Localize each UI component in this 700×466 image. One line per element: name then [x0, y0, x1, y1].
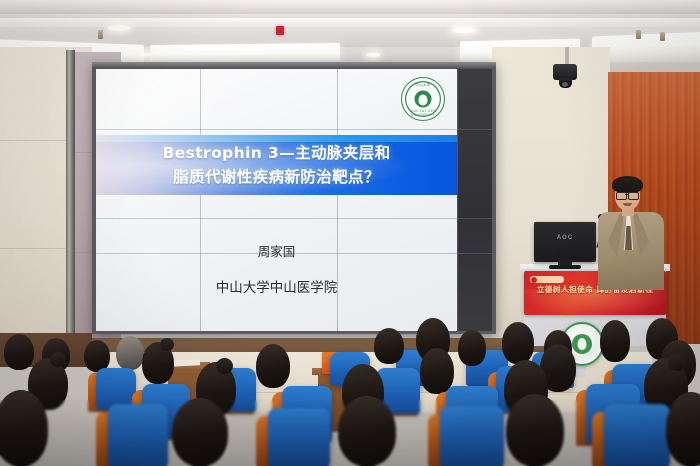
- audience-head-r1-f: [600, 320, 630, 362]
- audience-head-r2-b: [256, 344, 290, 388]
- projected-slide: 中山大学 SUN YAT-SEN UNIVERSITY Bestrophin 3…: [96, 69, 457, 331]
- sprinkler-head-left: [98, 30, 103, 39]
- monitor-brand-label: AOC: [534, 235, 596, 241]
- ceiling-beam-lower: [0, 18, 700, 27]
- screen-seam-vertical-3: [457, 69, 458, 331]
- wall-seam-left-2: [0, 248, 70, 249]
- monitor-base: [549, 265, 581, 269]
- ceiling-light-panel-center: [150, 43, 340, 63]
- seal-bottom-text: SUN YAT-SEN UNIVERSITY: [402, 109, 444, 117]
- presentation-screen-top-rail: [92, 62, 496, 69]
- audience-head-r4-b: [172, 398, 228, 466]
- sprinkler-head-right-1: [636, 30, 641, 39]
- wall-seam-left-1: [0, 140, 70, 141]
- speaker-glasses-bridge: [625, 194, 628, 195]
- downlight-2: [452, 27, 476, 33]
- lecture-hall-photo: 中山大学 SUN YAT-SEN UNIVERSITY Bestrophin 3…: [0, 0, 700, 466]
- audience-head-r1-j: [4, 334, 34, 370]
- speaker-glasses-right-lens-icon: [628, 192, 639, 200]
- wall-metal-strip: [66, 50, 75, 350]
- slide-presenter-organization: 中山大学中山医学院: [96, 276, 457, 296]
- audience-bun-r2-a: [160, 338, 174, 351]
- downlight-4: [366, 53, 380, 57]
- slide-presenter-name: 周家国: [96, 241, 457, 260]
- audience-bun-r3-b: [216, 358, 233, 374]
- banner-logo-dot-icon: [531, 277, 537, 283]
- seat-row4-2[interactable]: [268, 408, 330, 466]
- presentation-screen-bezel-right: [457, 69, 492, 331]
- audience-head-r4-d: [506, 394, 564, 466]
- sprinkler-head-right-2: [660, 32, 665, 41]
- downlight-3: [137, 53, 151, 57]
- audience-head-r1-gray: [116, 336, 144, 370]
- green-sign-leaf-glyph: [578, 338, 587, 350]
- seat-row4-3[interactable]: [440, 406, 504, 466]
- podium-monitor: AOC: [534, 222, 596, 262]
- audience-head-r1-a: [374, 328, 404, 364]
- audience-bun-r3-e: [668, 354, 686, 371]
- university-seal-icon: 中山大学 SUN YAT-SEN UNIVERSITY: [401, 77, 445, 121]
- seat-row4-4[interactable]: [604, 404, 670, 466]
- speaker-hair: [612, 176, 643, 193]
- downlight-1: [108, 25, 130, 31]
- audience-head-r1-d: [502, 322, 534, 364]
- slide-title-line-1: Bestrophin 3—主动脉夹层和: [96, 141, 457, 163]
- audience-bun-r3-a: [50, 352, 66, 367]
- seal-top-text: 中山大学: [402, 82, 444, 87]
- seat-row4-1[interactable]: [108, 404, 168, 466]
- slide-title-line-2: 脂质代谢性疾病新防治靶点？: [96, 165, 457, 187]
- audience-head-r4-a: [0, 390, 48, 466]
- audience-head-r4-c: [338, 396, 396, 466]
- audience-head-r1-c: [458, 330, 486, 366]
- camera-lens-glass: [562, 82, 568, 87]
- ceiling-beam-upper: [0, 0, 700, 14]
- fire-alarm-icon: [276, 26, 284, 35]
- seal-leaf-glyph: [419, 94, 428, 105]
